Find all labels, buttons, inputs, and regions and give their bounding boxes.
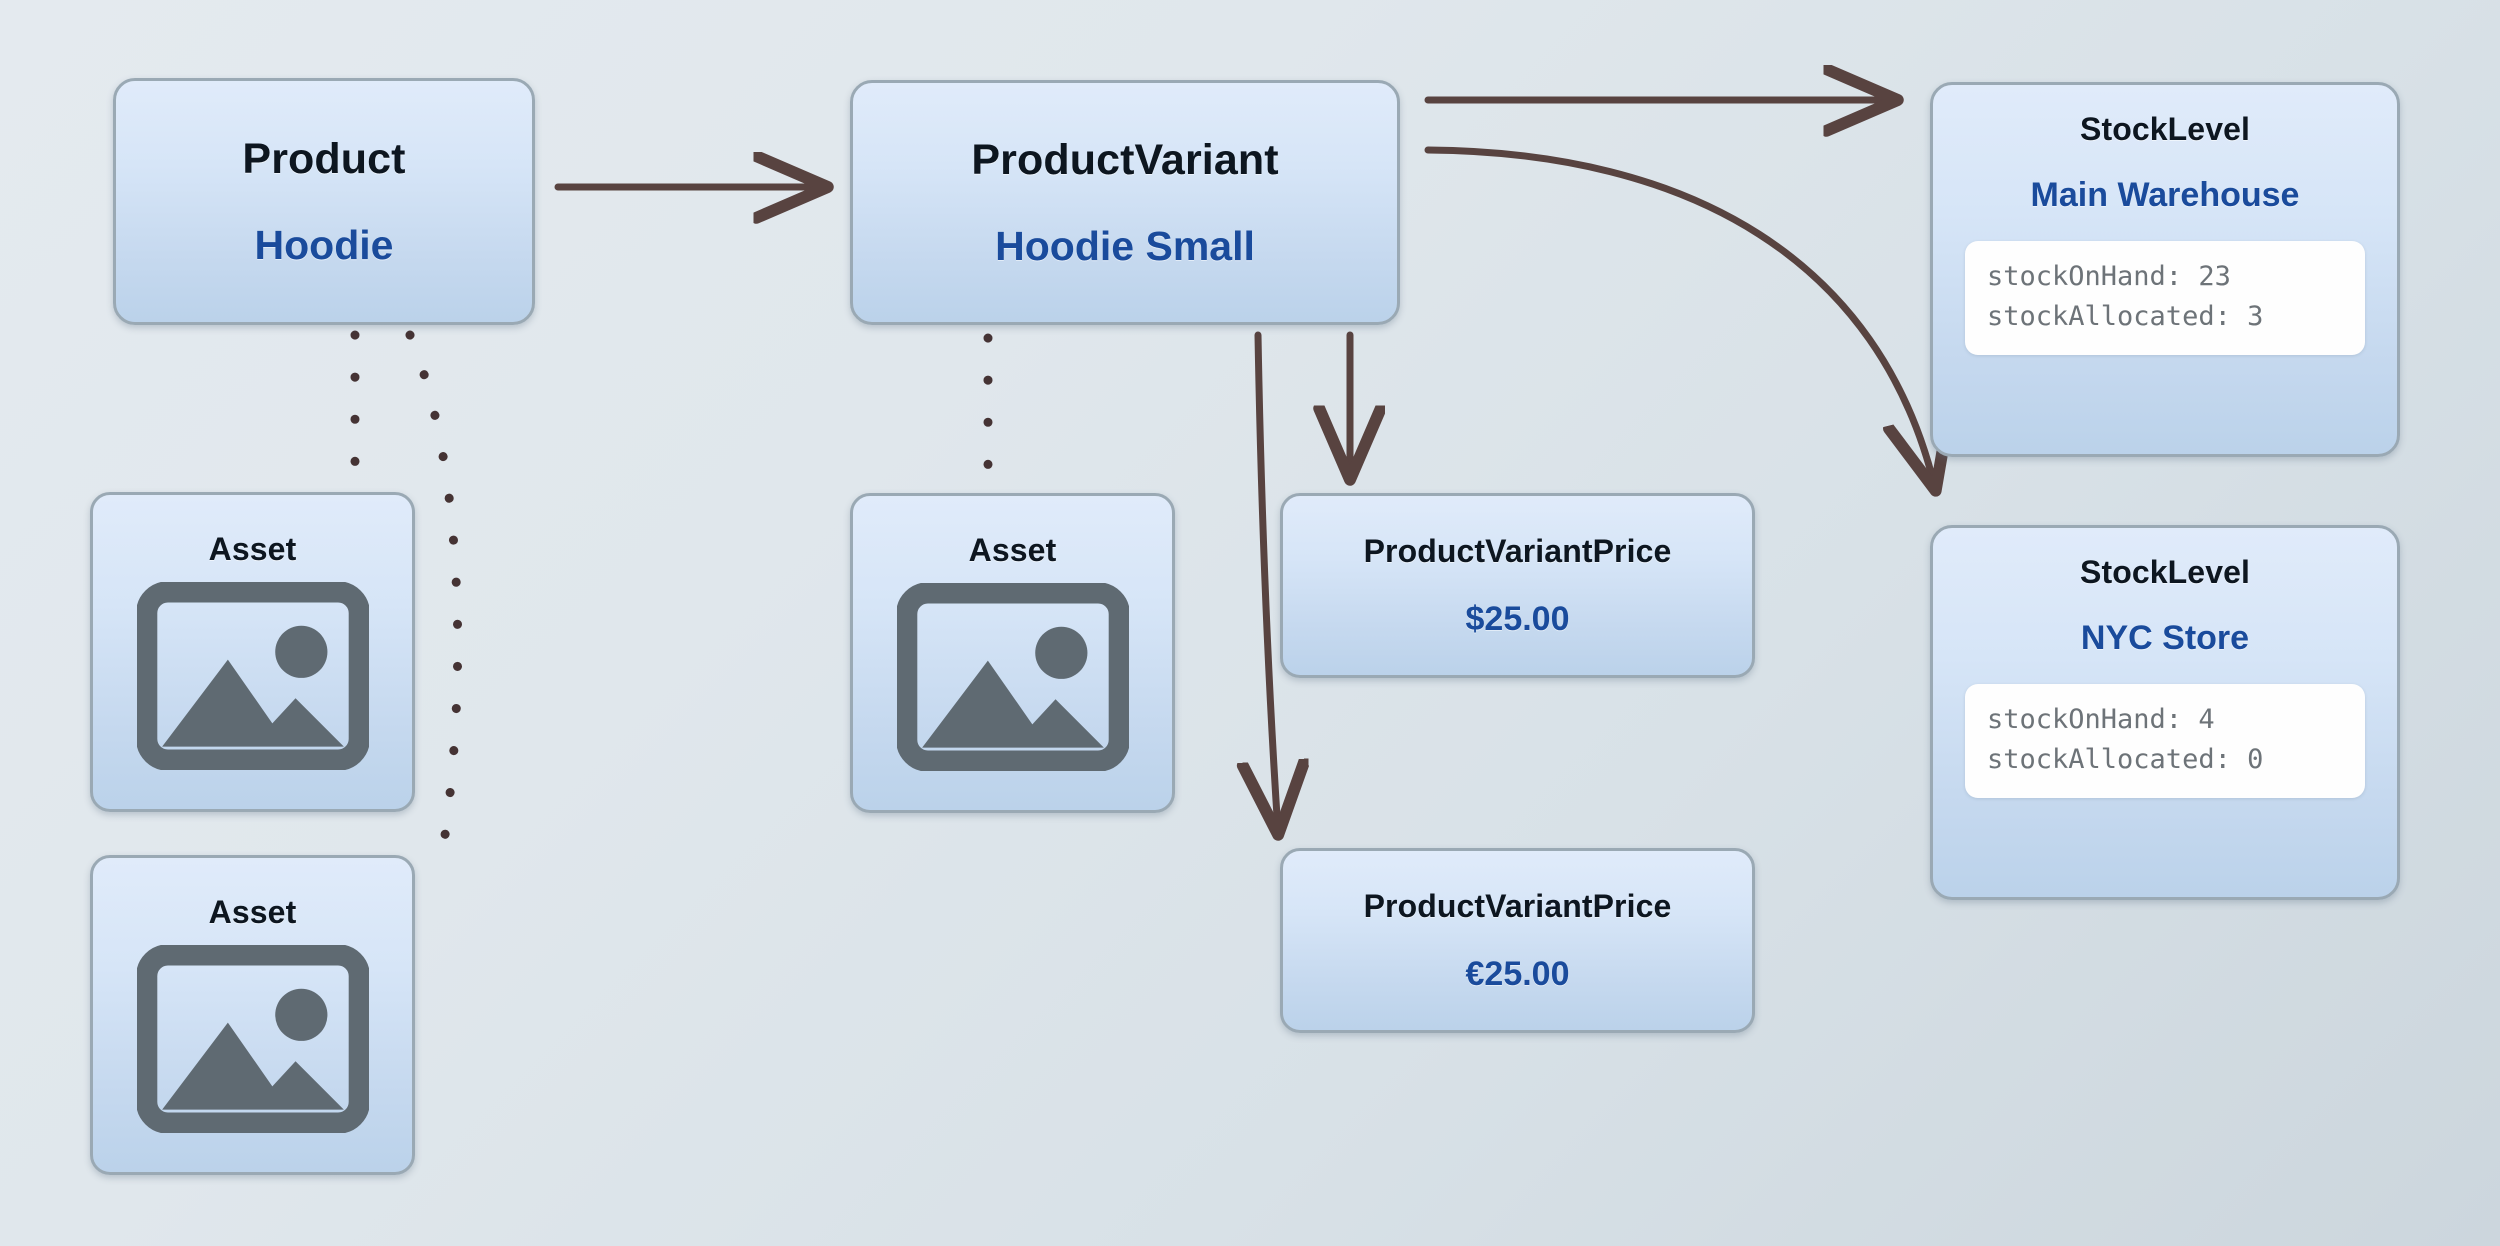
image-placeholder-icon [137,945,369,1133]
edge-product-to-asset-2 [410,335,458,868]
node-product[interactable]: Product Hoodie [113,78,535,325]
edge-variant-to-stock-nyc [1428,150,1935,488]
diagram-canvas: Product Hoodie ProductVariant Hoodie Sma… [0,0,2500,1246]
node-price-usd[interactable]: ProductVariantPrice $25.00 [1280,493,1755,678]
node-stocklevel-type: StockLevel [2080,111,2250,148]
node-asset-label: Asset [209,894,297,931]
node-product-variant-name: Hoodie Small [995,223,1255,270]
node-asset-label: Asset [969,532,1057,569]
node-asset-variant-1[interactable]: Asset [850,493,1175,813]
stock-on-hand-line: stockOnHand: 23 [1965,257,2365,297]
image-placeholder-icon [897,583,1129,771]
node-stocklevel-type: StockLevel [2080,554,2250,591]
node-stocklevel-location: Main Warehouse [2031,176,2300,215]
node-product-type: Product [242,135,405,184]
node-product-variant-type: ProductVariant [971,136,1278,185]
stock-on-hand-line: stockOnHand: 4 [1965,700,2365,740]
node-product-name: Hoodie [255,222,394,269]
stock-allocated-line: stockAllocated: 3 [1965,297,2365,337]
stock-allocated-line: stockAllocated: 0 [1965,740,2365,780]
node-price-eur-value: €25.00 [1466,955,1570,994]
node-price-eur-type: ProductVariantPrice [1364,888,1672,925]
node-stocklevel-location: NYC Store [2081,619,2249,658]
edge-variant-to-price-eur [1258,335,1278,832]
image-placeholder-icon [137,582,369,770]
node-price-usd-value: $25.00 [1466,600,1570,639]
node-product-variant[interactable]: ProductVariant Hoodie Small [850,80,1400,325]
node-stocklevel-main-warehouse[interactable]: StockLevel Main Warehouse stockOnHand: 2… [1930,82,2400,457]
node-asset-product-2[interactable]: Asset [90,855,415,1175]
node-price-eur[interactable]: ProductVariantPrice €25.00 [1280,848,1755,1033]
node-price-usd-type: ProductVariantPrice [1364,533,1672,570]
node-stocklevel-nyc-store[interactable]: StockLevel NYC Store stockOnHand: 4 stoc… [1930,525,2400,900]
stocklevel-fields-panel: stockOnHand: 23 stockAllocated: 3 [1965,241,2365,355]
node-asset-product-1[interactable]: Asset [90,492,415,812]
node-asset-label: Asset [209,531,297,568]
stocklevel-fields-panel: stockOnHand: 4 stockAllocated: 0 [1965,684,2365,798]
